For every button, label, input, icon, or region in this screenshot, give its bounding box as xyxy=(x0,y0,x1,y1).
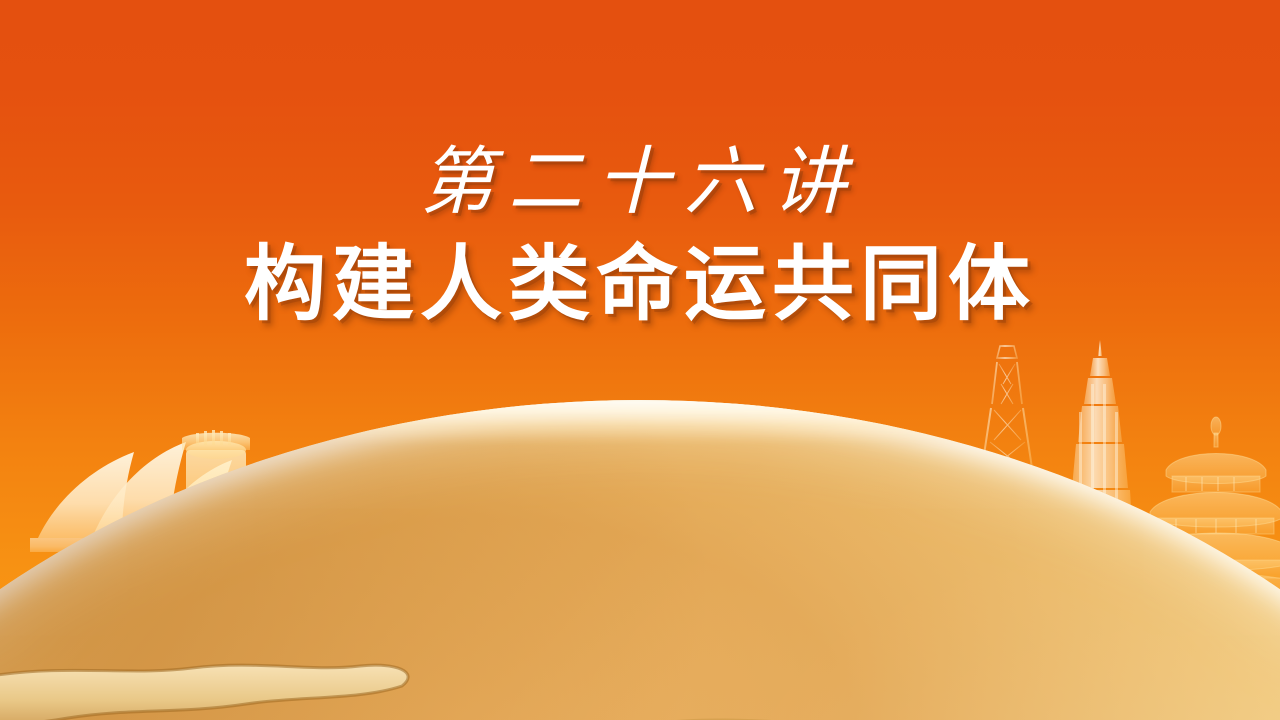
slide-title-main: 构建人类命运共同体 xyxy=(0,237,1280,334)
globe-continents xyxy=(0,400,1280,720)
globe-atmosphere-rim xyxy=(0,400,1280,446)
globe xyxy=(0,400,1280,720)
title-slide: 第二十六讲 构建人类命运共同体 xyxy=(0,0,1280,720)
slide-title-lecture-number: 第二十六讲 xyxy=(0,142,1280,225)
slide-titles: 第二十六讲 构建人类命运共同体 xyxy=(0,142,1280,334)
